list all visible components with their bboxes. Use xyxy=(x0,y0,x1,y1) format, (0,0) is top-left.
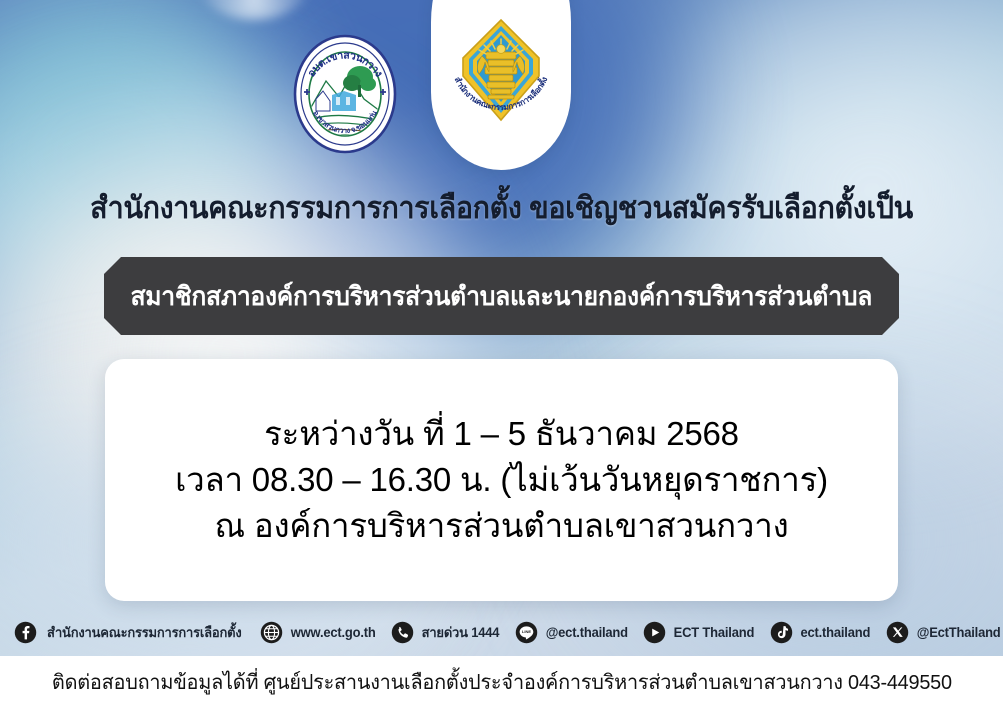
social-footer-bar: สำนักงานคณะกรรมการการเลือกตั้ง www.ect.g… xyxy=(0,608,1003,656)
social-label-facebook: สำนักงานคณะกรรมการการเลือกตั้ง xyxy=(47,621,241,643)
social-label-hotline: สายด่วน 1444 xyxy=(422,621,500,643)
phone-icon xyxy=(391,621,414,644)
social-item-tiktok[interactable]: ect.thailand xyxy=(770,621,872,644)
position-banner: สมาชิกสภาองค์การบริหารส่วนตำบลและนายกองค… xyxy=(104,257,899,335)
details-line-venue: ณ องค์การบริหารส่วนตำบลเขาสวนกวาง xyxy=(214,504,788,548)
social-item-line[interactable]: LINE @ect.thailand xyxy=(515,621,630,644)
poster-headline: สำนักงานคณะกรรมการการเลือกตั้ง ขอเชิญชวน… xyxy=(30,184,973,232)
ect-seal-emblem: สำนักงานคณะกรรมการการเลือกตั้ง xyxy=(444,12,558,148)
social-label-youtube: ECT Thailand xyxy=(674,625,755,640)
contact-caption-strip: ติดต่อสอบถามข้อมูลได้ที่ ศูนย์ประสานงานเ… xyxy=(0,656,1003,709)
local-administrative-seal-emblem: อบต.เขาสวนกวาง อ.เขาสวนกวาง จ.ขอนแก่น xyxy=(292,33,398,155)
tiktok-icon xyxy=(770,621,793,644)
social-item-youtube[interactable]: ECT Thailand xyxy=(643,621,756,644)
social-item-hotline[interactable]: สายด่วน 1444 xyxy=(391,621,501,644)
social-label-x: @EctThailand xyxy=(917,625,1001,640)
details-line-time: เวลา 08.30 – 16.30 น. (ไม่เว้นวันหยุดราช… xyxy=(175,458,828,502)
contact-caption-text: ติดต่อสอบถามข้อมูลได้ที่ ศูนย์ประสานงานเ… xyxy=(52,666,952,699)
social-label-line: @ect.thailand xyxy=(546,625,628,640)
globe-icon xyxy=(260,621,283,644)
social-item-x[interactable]: @EctThailand xyxy=(886,621,1002,644)
x-icon xyxy=(886,621,909,644)
position-banner-text: สมาชิกสภาองค์การบริหารส่วนตำบลและนายกองค… xyxy=(131,276,873,317)
line-icon: LINE xyxy=(515,621,538,644)
svg-text:LINE: LINE xyxy=(522,629,531,634)
social-label-website: www.ect.go.th xyxy=(290,625,375,640)
social-item-website[interactable]: www.ect.go.th xyxy=(260,621,377,644)
facebook-icon xyxy=(14,621,37,644)
details-card: ระหว่างวัน ที่ 1 – 5 ธันวาคม 2568 เวลา 0… xyxy=(105,359,898,601)
poster-canvas: อบต.เขาสวนกวาง อ.เขาสวนกวาง จ.ขอนแก่น xyxy=(0,0,1003,709)
social-item-facebook[interactable]: สำนักงานคณะกรรมการการเลือกตั้ง xyxy=(14,621,246,644)
social-label-tiktok: ect.thailand xyxy=(801,625,871,640)
details-line-date: ระหว่างวัน ที่ 1 – 5 ธันวาคม 2568 xyxy=(264,412,739,456)
youtube-icon xyxy=(643,621,666,644)
